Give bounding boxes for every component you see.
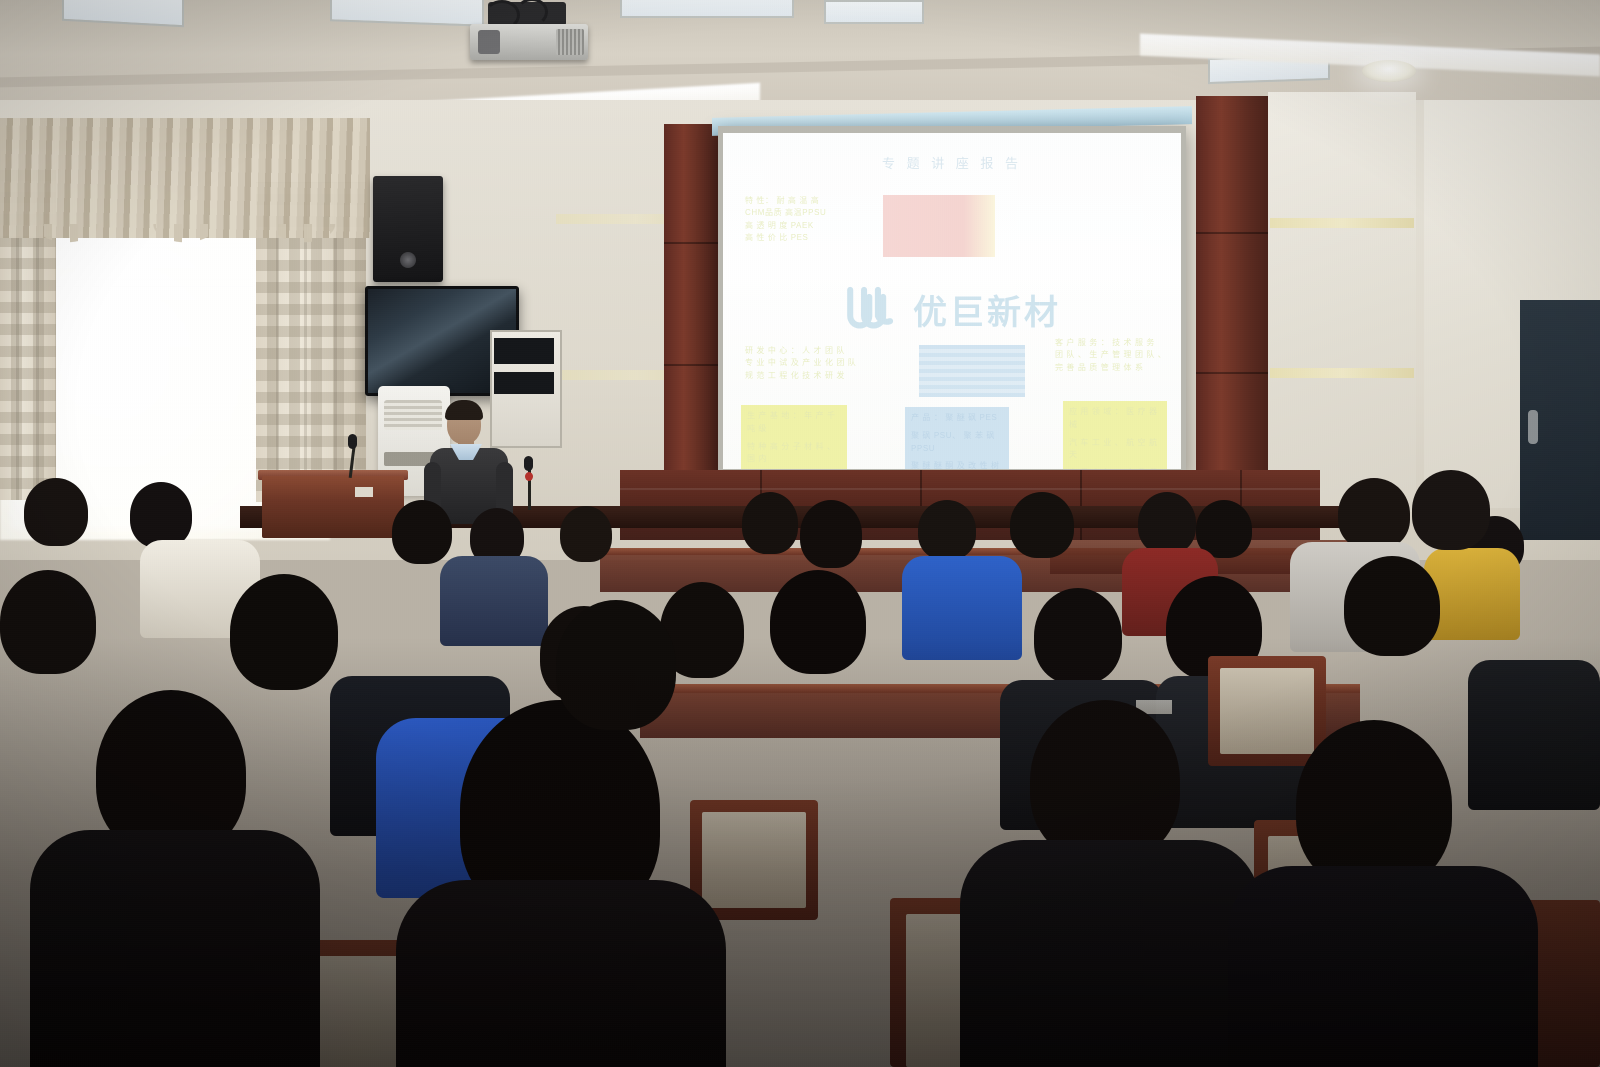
audience-torso (1468, 660, 1600, 810)
wood-column (664, 124, 720, 476)
projector-lens-icon (478, 30, 500, 54)
audience-torso-foreground (960, 840, 1260, 1067)
speaker-cone-icon (400, 252, 416, 268)
microphone-indicator-light (525, 472, 533, 481)
wall-accent-stripe (1270, 368, 1414, 378)
slide-panel-bottom-center: 产 品 ： 聚 醚 砜 PES 聚 砜 PSU、 聚 苯 砜 PPSU 聚 醚 … (905, 407, 1009, 469)
audience-head (1034, 588, 1122, 684)
audience-head-foreground (1030, 700, 1180, 862)
slide-panel-bottom-right: 应 用 领 域 ： 医 疗 器 械 汽 车 工 业 、 航 空 航 天 电 子 … (1063, 401, 1167, 469)
audience-torso-foreground (1228, 866, 1538, 1067)
lecture-hall-photo: 专 题 讲 座 报 告 特 性： 耐 高 温 高 CHM品质 高温PPSU 高 … (0, 0, 1600, 1067)
audience-head (392, 500, 452, 564)
audience-head (770, 570, 866, 674)
slide-column-left: 研 发 中 心 ： 人 才 团 队 专 业 中 试 及 产 业 化 团 队 规 … (745, 345, 885, 382)
slide-title: 专 题 讲 座 报 告 (723, 153, 1181, 172)
ceiling-light-panel (824, 0, 924, 24)
audience-head (24, 478, 88, 546)
wood-column (1196, 96, 1268, 516)
wall-accent-stripe (1270, 218, 1414, 228)
projector-vent (556, 29, 584, 55)
uu-paperclip-logo-icon (843, 283, 899, 335)
audience-head (742, 492, 798, 554)
slide-bullets-top-left: 特 性： 耐 高 温 高 CHM品质 高温PPSU 高 透 明 度 PAEK 高… (745, 195, 875, 245)
floor-microphone-icon (524, 456, 533, 471)
slide-image-placeholder (883, 195, 995, 257)
audience-head (0, 570, 96, 674)
rack-device (494, 372, 554, 394)
door-handle-icon[interactable] (1528, 410, 1538, 444)
audience-torso (440, 556, 548, 646)
audience-torso-foreground (30, 830, 320, 1067)
rack-device (494, 338, 554, 364)
audience-head (230, 574, 338, 690)
audience-head (130, 482, 192, 548)
audience-head (918, 500, 976, 560)
company-logo-text: 优巨新材 (913, 285, 1061, 334)
slide-panel-bottom-left: 生 产 基 地 ： 年 产 千 吨 级 特 种 高 分 子 材 料 、 国 内 … (741, 405, 847, 469)
slide-column-right: 客 户 服 务 ： 技 术 服 务 团 队 、 生 产 管 理 团 队 、 完 … (1055, 337, 1175, 374)
slide-center-image (919, 345, 1025, 397)
audience-head (1344, 556, 1440, 656)
audience-head (1138, 492, 1196, 554)
audience-torso-foreground (396, 880, 726, 1067)
wall-marble-panel (1268, 92, 1416, 512)
company-logo: 优巨新材 (723, 283, 1181, 335)
audience-head (1338, 478, 1410, 550)
audience-head-foreground (1296, 720, 1452, 890)
projection-screen: 专 题 讲 座 报 告 特 性： 耐 高 温 高 CHM品质 高温PPSU 高 … (723, 133, 1181, 469)
audience-head (1412, 470, 1490, 550)
air-conditioner-grill (384, 400, 442, 430)
audience-blue-jacket (902, 556, 1022, 660)
chair-upholstery (1220, 668, 1314, 754)
ceiling-light-panel (620, 0, 794, 18)
lectern (262, 476, 404, 538)
chair-upholstery (702, 812, 806, 908)
audience-head (1010, 492, 1074, 558)
audience-head (560, 506, 612, 562)
audience-head (556, 600, 676, 730)
curtain-valance (0, 118, 370, 238)
ceiling-spotlight-icon (1362, 60, 1416, 82)
audience-head (800, 500, 862, 568)
lectern-plate (355, 487, 373, 497)
lectern-microphone-icon (348, 434, 357, 449)
